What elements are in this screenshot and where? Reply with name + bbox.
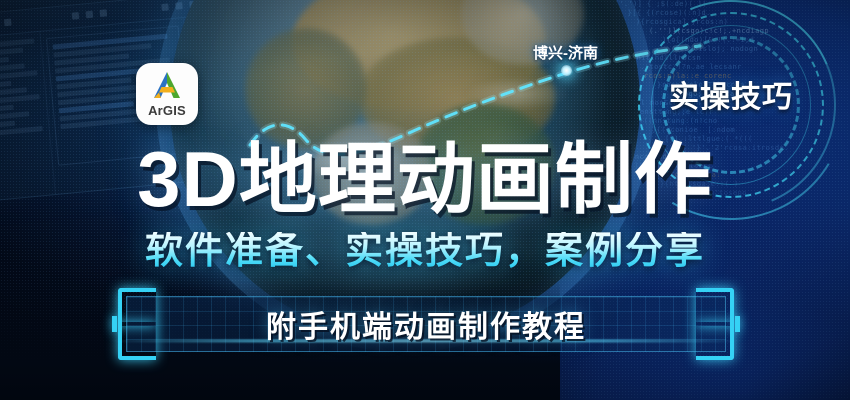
banner-edge-right <box>735 316 740 332</box>
page-subtitle: 软件准备、实操技巧，案例分享 <box>0 232 850 270</box>
bottom-banner: 附手机端动画制作教程 <box>126 296 726 352</box>
skill-badge: 实操技巧 <box>645 72 817 116</box>
arcgis-wordmark: ArGIS <box>148 103 186 118</box>
banner-label: 附手机端动画制作教程 <box>126 296 726 352</box>
arcgis-logo[interactable]: ArGIS <box>136 63 198 125</box>
route-marker-dot <box>561 65 572 76</box>
poster-canvas: [('.')] { ;$(:de)( )( }[{ {(rcose)(:n]d.… <box>0 0 850 400</box>
arcgis-a-icon <box>148 70 186 102</box>
banner-edge-left <box>112 316 117 332</box>
route-label: 博兴-济南 <box>533 42 598 63</box>
page-title: 3D地理动画制作 <box>0 140 850 218</box>
